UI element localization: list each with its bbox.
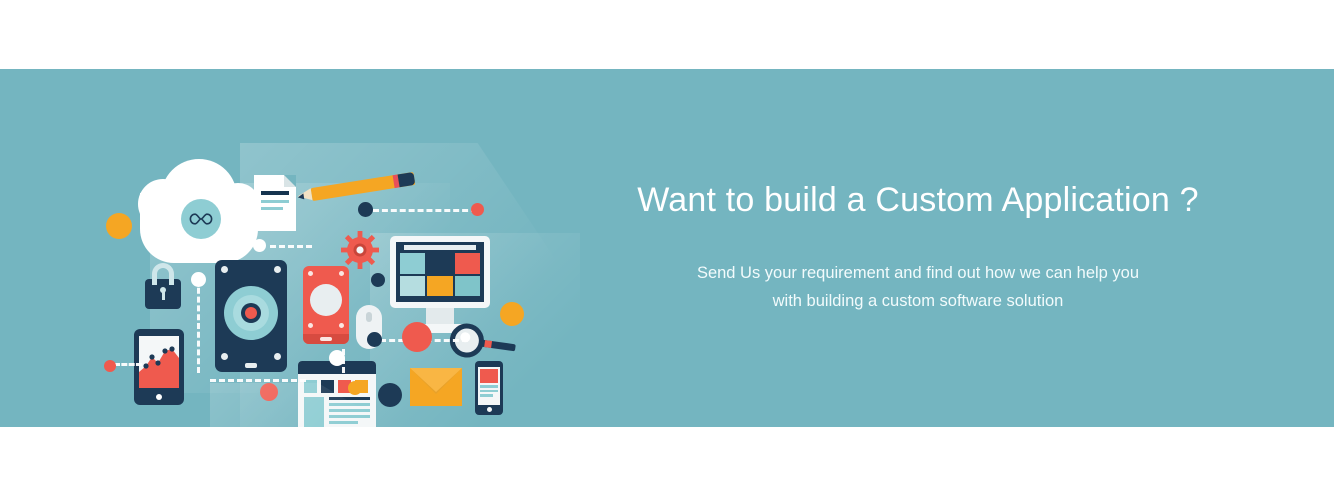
cta-subtitle-line-1: Send Us your requirement and find out ho… bbox=[697, 264, 1139, 282]
cloud-icon bbox=[140, 193, 258, 263]
cta-subtitle-line-2: with building a custom software solution bbox=[773, 292, 1064, 310]
node-dot bbox=[471, 203, 484, 216]
tablet-chart-icon bbox=[134, 329, 184, 405]
accent-dot bbox=[402, 322, 432, 352]
accent-dot bbox=[106, 213, 132, 239]
envelope-icon bbox=[410, 368, 462, 406]
cta-banner: Want to build a Custom Application ? Sen… bbox=[0, 69, 1334, 427]
hard-drive-icon bbox=[215, 260, 287, 372]
gear-icon bbox=[341, 231, 379, 269]
node-dot bbox=[191, 272, 206, 287]
page-root: Want to build a Custom Application ? Sen… bbox=[0, 0, 1334, 500]
accent-dot bbox=[348, 381, 362, 395]
browser-swatches bbox=[298, 374, 376, 397]
node-dot bbox=[358, 202, 373, 217]
connector-line bbox=[114, 363, 142, 366]
area-chart-glyph bbox=[139, 336, 179, 388]
node-dot bbox=[371, 273, 385, 287]
infinity-icon bbox=[181, 199, 221, 239]
connector-line bbox=[210, 379, 306, 382]
node-dot bbox=[329, 350, 345, 366]
illustration bbox=[90, 83, 580, 403]
lock-icon bbox=[145, 279, 181, 309]
accent-dot bbox=[260, 383, 278, 401]
pencil-icon bbox=[311, 172, 416, 201]
connector-line bbox=[373, 209, 477, 212]
node-dot bbox=[253, 239, 266, 252]
node-dot bbox=[367, 332, 382, 347]
monitor-tiles bbox=[398, 253, 482, 298]
accent-dot bbox=[500, 302, 524, 326]
cta-subtitle: Send Us your requirement and find out ho… bbox=[560, 259, 1276, 315]
infinity-glyph bbox=[188, 212, 214, 226]
monitor-icon bbox=[390, 236, 490, 334]
document-icon bbox=[254, 175, 296, 231]
connector-line bbox=[197, 279, 200, 373]
cta-copy: Want to build a Custom Application ? Sen… bbox=[560, 179, 1276, 315]
browser-window-icon bbox=[298, 361, 376, 427]
smartphone-icon bbox=[475, 361, 503, 415]
red-device-icon bbox=[303, 266, 349, 344]
connector-line bbox=[270, 245, 312, 248]
node-dot bbox=[104, 360, 116, 372]
accent-dot bbox=[378, 383, 402, 407]
page-title: Want to build a Custom Application ? bbox=[560, 179, 1276, 221]
